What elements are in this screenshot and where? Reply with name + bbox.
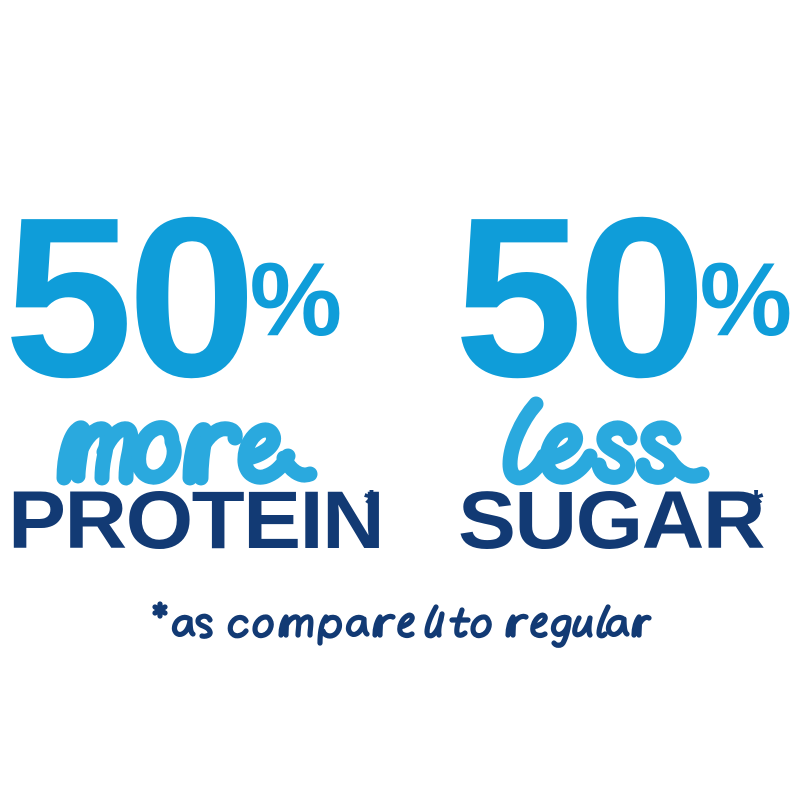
protein-block-word: PROTEIN * [8,487,379,556]
claim-panel-sugar: 50 % [400,210,800,570]
sugar-percent-headline: 50 % [454,210,792,390]
sugar-percent-sign: % [700,248,792,352]
protein-number: 50 [4,210,250,388]
claim-panel-protein: 50 % [0,210,400,570]
claims-row: 50 % [0,210,800,570]
protein-label: PROTEIN [8,487,383,556]
promo-graphic: 50 % [0,0,800,800]
footnote-script-text [150,594,650,644]
protein-percent-sign: % [250,248,342,352]
sugar-block-word: SUGAR * [458,487,763,556]
footnote [0,594,800,644]
sugar-label: SUGAR [458,487,764,556]
sugar-number: 50 [454,210,700,388]
protein-percent-headline: 50 % [4,210,342,390]
